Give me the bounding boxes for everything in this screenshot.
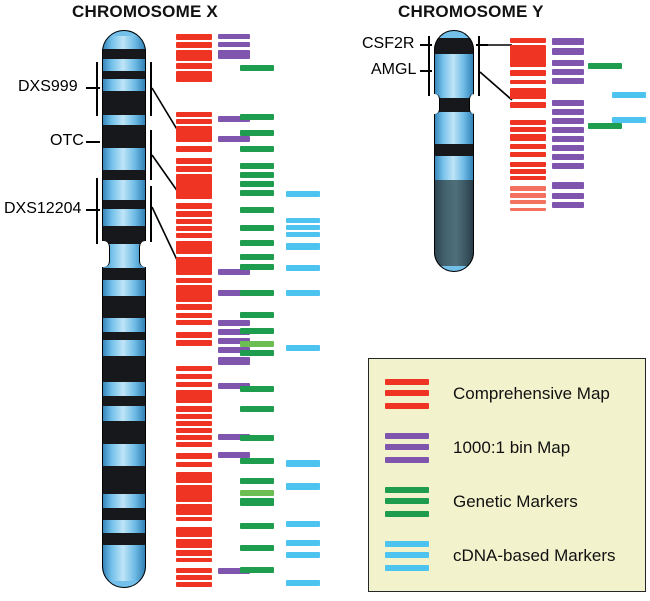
comprehensive-map-bar <box>176 126 212 142</box>
comprehensive-map-bar <box>176 320 212 325</box>
comprehensive-map-bar <box>176 112 212 117</box>
cdna-marker-bar <box>286 540 320 546</box>
genetic-marker-bar <box>240 435 274 441</box>
comprehensive-map-bar <box>176 374 212 379</box>
comprehensive-map-bar <box>176 527 212 537</box>
cdna-marker-bar <box>286 232 320 237</box>
comprehensive-map-bar <box>176 517 212 521</box>
comprehensive-map-bar <box>176 332 212 338</box>
legend-swatch-cdna-markers <box>385 539 429 573</box>
comprehensive-map-bar <box>176 211 212 217</box>
cdna-marker-bar <box>286 521 320 527</box>
genetic-marker-bar <box>240 386 274 392</box>
genetic-marker-bar <box>240 545 274 551</box>
legend-label-comprehensive-map: Comprehensive Map <box>453 384 610 404</box>
genetic-marker-bar <box>240 341 274 347</box>
comprehensive-map-bar <box>176 304 212 310</box>
comprehensive-map-bar <box>176 366 212 371</box>
legend-item-genetic-markers: Genetic Markers <box>385 485 578 519</box>
comprehensive-map-bar <box>176 582 212 587</box>
comprehensive-map-bar <box>176 550 212 556</box>
comprehensive-map-bar <box>176 575 212 580</box>
cdna-marker-bar <box>286 290 320 296</box>
bin-map-bar <box>552 163 584 169</box>
comprehensive-map-bar <box>176 146 212 152</box>
bin-map-bar <box>552 127 584 133</box>
bin-map-bar <box>552 118 584 124</box>
genetic-marker-bar <box>240 490 274 496</box>
genetic-marker-bar <box>240 264 274 270</box>
comprehensive-map-bar <box>510 152 546 157</box>
cdna-marker-bar <box>286 243 320 250</box>
comprehensive-map-bar <box>176 435 212 440</box>
legend-label-genetic-markers: Genetic Markers <box>453 492 578 512</box>
comprehensive-map-bar <box>510 186 546 191</box>
genetic-marker-bar <box>240 254 274 260</box>
comprehensive-map-bar <box>510 208 546 211</box>
genetic-marker-bar <box>240 567 274 573</box>
genetic-marker-bar <box>240 181 274 187</box>
x-track-comprehensive-map <box>176 0 212 601</box>
comprehensive-map-bar <box>510 88 546 99</box>
comprehensive-map-bar <box>176 71 212 82</box>
comprehensive-map-bar <box>176 34 212 40</box>
genetic-marker-bar <box>240 163 274 169</box>
comprehensive-map-bar <box>176 42 212 48</box>
comprehensive-map-bar <box>176 558 212 562</box>
legend-label-cdna-markers: cDNA-based Markers <box>453 546 616 566</box>
bin-map-bar <box>552 182 584 189</box>
comprehensive-map-bar <box>176 382 212 387</box>
comprehensive-map-bar <box>176 158 212 164</box>
comprehensive-map-bar <box>510 45 546 67</box>
genetic-marker-bar <box>240 350 274 356</box>
comprehensive-map-bar <box>510 200 546 204</box>
comprehensive-map-bar <box>176 63 212 69</box>
comprehensive-map-bar <box>510 127 546 132</box>
cdna-marker-bar <box>612 92 646 98</box>
comprehensive-map-bar <box>176 313 212 318</box>
comprehensive-map-bar <box>176 504 212 515</box>
comprehensive-map-bar <box>510 176 546 180</box>
comprehensive-map-bar <box>510 70 546 76</box>
comprehensive-map-bar <box>176 166 212 172</box>
comprehensive-map-bar <box>176 472 212 483</box>
bin-map-bar <box>552 100 584 106</box>
comprehensive-map-bar <box>176 278 212 283</box>
comprehensive-map-bar <box>176 119 212 124</box>
legend-swatch-genetic-markers <box>385 485 429 519</box>
cdna-marker-bar <box>286 552 320 558</box>
genetic-marker-bar <box>240 240 274 246</box>
comprehensive-map-bar <box>176 219 212 224</box>
comprehensive-map-bar <box>176 406 212 412</box>
genetic-marker-bar <box>240 130 274 136</box>
cdna-marker-bar <box>286 191 320 197</box>
comprehensive-map-bar <box>176 568 212 573</box>
bin-map-bar <box>552 154 584 160</box>
genetic-marker-bar <box>240 498 274 506</box>
bin-map-bar <box>552 109 584 115</box>
cdna-marker-bar <box>286 265 320 271</box>
comprehensive-map-bar <box>176 257 212 275</box>
genetic-marker-bar <box>240 406 274 412</box>
comprehensive-map-bar <box>176 462 212 467</box>
genetic-marker-bar <box>240 458 274 464</box>
genetic-marker-bar <box>240 190 274 196</box>
comprehensive-map-bar <box>176 340 212 346</box>
comprehensive-map-bar <box>176 241 212 254</box>
cdna-marker-bar <box>286 580 320 586</box>
cdna-marker-bar <box>612 117 646 123</box>
cdna-marker-bar <box>286 218 320 223</box>
legend-swatch-bin-map <box>385 431 429 465</box>
comprehensive-map-bar <box>510 169 546 174</box>
cdna-marker-bar <box>286 225 320 230</box>
comprehensive-map-bar <box>510 120 546 125</box>
genetic-marker-bar <box>240 478 274 484</box>
comprehensive-map-bar <box>510 38 546 43</box>
bin-map-bar <box>552 78 584 84</box>
comprehensive-map-bar <box>176 233 212 238</box>
genetic-marker-bar <box>240 65 274 71</box>
cdna-marker-bar <box>286 460 320 467</box>
comprehensive-map-bar <box>176 285 212 302</box>
genetic-marker-bar <box>240 225 274 231</box>
bin-map-bar <box>552 48 584 55</box>
comprehensive-map-bar <box>510 162 546 167</box>
comprehensive-map-bar <box>176 428 212 433</box>
x-track-cdna-markers <box>286 0 320 601</box>
genetic-marker-bar <box>240 114 274 120</box>
bin-map-bar <box>552 60 584 66</box>
genetic-marker-bar <box>240 328 274 334</box>
legend-item-bin-map: 1000:1 bin Map <box>385 431 570 465</box>
comprehensive-map-bar <box>510 193 546 198</box>
bin-map-bar <box>552 145 584 151</box>
comprehensive-map-bar <box>510 80 546 84</box>
comprehensive-map-bar <box>176 174 212 199</box>
cdna-marker-bar <box>286 345 320 351</box>
comprehensive-map-bar <box>176 226 212 231</box>
comprehensive-map-bar <box>510 134 546 141</box>
legend-item-cdna-markers: cDNA-based Markers <box>385 539 616 573</box>
legend-item-comprehensive: Comprehensive Map <box>385 377 610 411</box>
genetic-marker-bar <box>240 146 274 152</box>
bin-map-bar <box>552 202 584 208</box>
genetic-marker-bar <box>240 172 274 178</box>
bin-map-bar <box>552 38 584 45</box>
x-track-genetic-markers <box>240 0 274 601</box>
comprehensive-map-bar <box>176 390 212 403</box>
genetic-marker-bar <box>240 290 274 296</box>
comprehensive-map-bar <box>510 102 546 108</box>
legend-box: Comprehensive Map 1000:1 bin Map Genetic… <box>368 358 646 592</box>
legend-swatch-comprehensive-map <box>385 377 429 411</box>
comprehensive-map-bar <box>176 203 212 209</box>
comprehensive-map-bar <box>176 421 212 426</box>
comprehensive-map-bar <box>176 414 212 419</box>
bin-map-bar <box>552 69 584 75</box>
bin-map-bar <box>552 136 584 142</box>
genetic-marker-bar <box>240 207 274 213</box>
comprehensive-map-bar <box>176 485 212 502</box>
genetic-marker-bar <box>240 523 274 529</box>
genetic-marker-bar <box>240 312 274 318</box>
comprehensive-map-bar <box>176 50 212 61</box>
chromosome-x-panel: CHROMOSOME X DXS999 OTC DXS12204 <box>0 0 340 601</box>
comprehensive-map-bar <box>176 453 212 459</box>
comprehensive-map-bar <box>510 144 546 149</box>
comprehensive-map-bar <box>176 539 212 548</box>
legend-label-bin-map: 1000:1 bin Map <box>453 438 570 458</box>
cdna-marker-bar <box>286 483 320 490</box>
comprehensive-map-bar <box>176 442 212 447</box>
bin-map-bar <box>552 193 584 199</box>
